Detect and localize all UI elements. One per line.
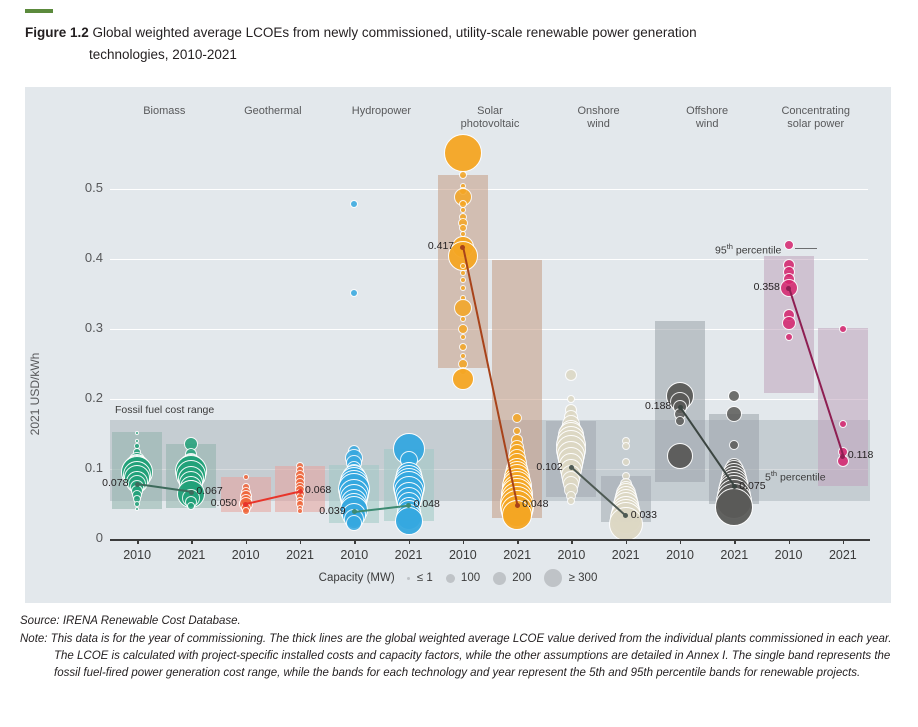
average-value-label: 0.188: [645, 400, 671, 412]
data-point: [567, 497, 575, 505]
plot-area: 00.10.20.30.40.52021 USD/kWhFossil fuel …: [25, 87, 891, 603]
average-value-label: 0.078: [102, 477, 128, 489]
x-axis-tick-label: 2010: [650, 548, 710, 562]
average-value-label: 0.075: [739, 480, 765, 492]
data-point: [839, 420, 847, 428]
average-marker: [243, 502, 248, 507]
legend-label: ≥ 300: [562, 572, 597, 584]
data-point: [187, 502, 195, 510]
average-value-label: 0.358: [754, 281, 780, 293]
legend-label: 200: [506, 572, 532, 584]
category-header-biomass: Biomass: [104, 105, 224, 118]
legend-marker-300: [544, 569, 562, 587]
y-axis-tick-label: 0.3: [55, 320, 103, 335]
data-point: [458, 324, 468, 334]
x-axis-tick-label: 2010: [759, 548, 819, 562]
data-point: [460, 316, 466, 322]
category-header-solar-photovoltaic: Solarphotovoltaic: [430, 105, 550, 131]
x-axis-tick-label: 2021: [596, 548, 656, 562]
average-value-label: 0.033: [631, 509, 657, 521]
data-point: [460, 353, 466, 359]
average-value-label: 0.417: [428, 240, 454, 252]
data-point: [729, 440, 739, 450]
y-axis-tick-label: 0.1: [55, 460, 103, 475]
x-axis-tick-label: 2021: [487, 548, 547, 562]
data-point: [460, 277, 466, 283]
data-point: [460, 270, 466, 276]
data-point: [444, 134, 482, 172]
average-marker: [406, 503, 411, 508]
data-point: [715, 488, 753, 526]
data-point: [782, 316, 796, 330]
data-point: [452, 368, 474, 390]
y-axis-tick-label: 0.2: [55, 390, 103, 405]
data-point: [395, 507, 423, 535]
data-point: [454, 299, 472, 317]
data-point: [242, 507, 250, 515]
x-axis-tick-label: 2021: [704, 548, 764, 562]
data-point: [459, 171, 467, 179]
percentile-95-annotation: 95th percentile: [715, 242, 781, 257]
x-axis-tick-label: 2021: [813, 548, 873, 562]
data-point: [565, 369, 577, 381]
gridline: [110, 189, 868, 191]
x-axis-line: [110, 539, 870, 541]
average-value-label: 0.118: [848, 449, 874, 461]
legend-marker-100: [446, 574, 455, 583]
x-axis-tick-label: 2010: [107, 548, 167, 562]
average-value-label: 0.050: [211, 497, 237, 509]
category-header-geothermal: Geothermal: [213, 105, 333, 118]
average-value-label: 0.102: [536, 461, 562, 473]
data-point: [135, 431, 139, 435]
x-axis-tick-label: 2010: [216, 548, 276, 562]
average-marker: [352, 509, 357, 514]
data-point: [459, 343, 467, 351]
percentile-95-leader: [795, 248, 817, 249]
average-value-label: 0.067: [196, 485, 222, 497]
y-axis-tick-label: 0.4: [55, 250, 103, 265]
source-text: Source: IRENA Renewable Cost Database.: [20, 613, 900, 630]
y-axis-title: 2021 USD/kWh: [28, 234, 42, 554]
average-marker: [189, 490, 194, 495]
figure-title-line1: Global weighted average LCOEs from newly…: [93, 25, 697, 40]
data-point: [350, 200, 358, 208]
x-axis-tick-label: 2021: [270, 548, 330, 562]
gridline: [110, 259, 868, 261]
average-marker: [460, 245, 465, 250]
note-body: Note: This data is for the year of commi…: [20, 631, 905, 682]
data-point: [350, 289, 358, 297]
figure-number: Figure 1.2: [25, 25, 89, 40]
category-header-concentrating-solar-power: Concentratingsolar power: [756, 105, 876, 131]
average-marker: [298, 489, 303, 494]
x-axis-tick-label: 2010: [541, 548, 601, 562]
average-marker: [135, 482, 140, 487]
data-point: [622, 458, 630, 466]
figure-title: Figure 1.2 Global weighted average LCOEs…: [25, 22, 890, 66]
average-marker: [678, 405, 683, 410]
data-point: [839, 325, 847, 333]
average-value-label: 0.068: [305, 484, 331, 496]
data-point: [297, 508, 303, 514]
x-axis-tick-label: 2010: [324, 548, 384, 562]
data-point: [512, 413, 522, 423]
data-point: [728, 390, 740, 402]
average-marker: [569, 465, 574, 470]
gridline: [110, 399, 868, 401]
legend-label: 100: [455, 572, 481, 584]
category-header-onshore-wind: Onshorewind: [539, 105, 659, 131]
figure-title-line2: technologies, 2010-2021: [89, 44, 890, 66]
data-point: [784, 240, 794, 250]
percentile-5-annotation: 5th percentile: [765, 469, 826, 484]
note-text: Note: This data is for the year of commi…: [20, 631, 905, 682]
x-axis-tick-label: 2021: [161, 548, 221, 562]
legend-marker-200: [493, 572, 506, 585]
legend-label: ≤ 1: [410, 572, 432, 584]
data-point: [567, 395, 575, 403]
category-header-offshore-wind: Offshorewind: [647, 105, 767, 131]
chart-panel: 00.10.20.30.40.52021 USD/kWhFossil fuel …: [25, 87, 891, 603]
gridline: [110, 329, 868, 331]
category-header-hydropower: Hydropower: [321, 105, 441, 118]
y-axis-tick-label: 0.5: [55, 180, 103, 195]
legend-title: Capacity (MW): [319, 572, 395, 584]
x-axis-tick-label: 2021: [379, 548, 439, 562]
chart-legend: Capacity (MW) ≤ 1 100 200 ≥ 300: [25, 569, 891, 587]
data-point: [622, 442, 630, 450]
average-marker: [732, 484, 737, 489]
fossil-band-label: Fossil fuel cost range: [115, 404, 214, 416]
data-point: [346, 515, 362, 531]
average-value-label: 0.048: [414, 498, 440, 510]
average-marker: [515, 503, 520, 508]
y-axis-tick-label: 0: [55, 530, 103, 545]
average-value-label: 0.039: [319, 505, 345, 517]
data-point: [135, 507, 139, 511]
average-marker: [786, 286, 791, 291]
x-axis-tick-label: 2010: [433, 548, 493, 562]
average-value-label: 0.048: [522, 498, 548, 510]
data-point: [785, 333, 793, 341]
accent-rule: [25, 9, 53, 13]
